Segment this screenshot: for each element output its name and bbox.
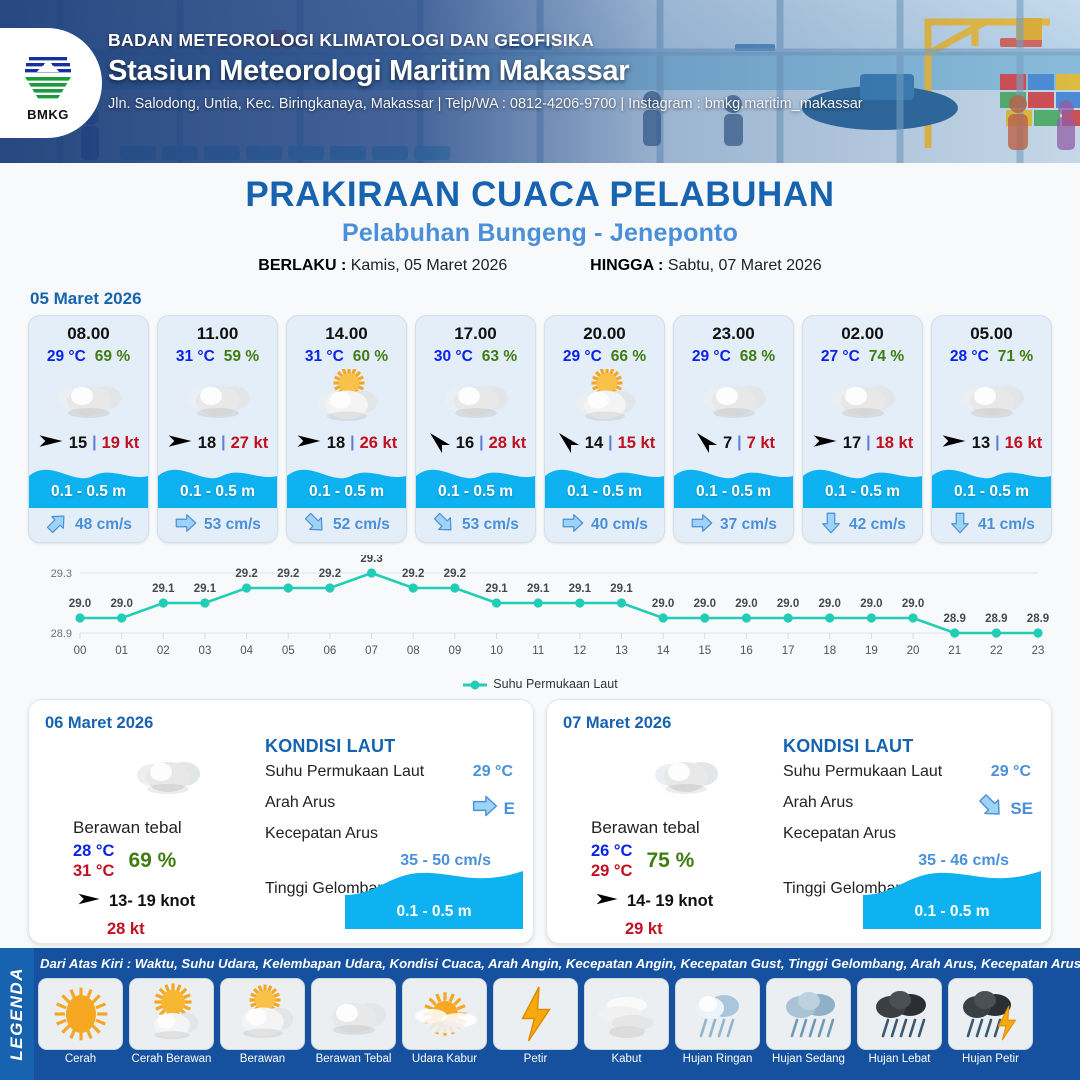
svg-text:28.9: 28.9 xyxy=(1027,613,1049,625)
daily-forecast-card: 07 Maret 2026 Berawan tebal 26 °C 29 °C … xyxy=(546,699,1052,944)
legend-item: Cerah Berawan xyxy=(129,978,214,1065)
petir-icon xyxy=(493,978,578,1050)
svg-text:18: 18 xyxy=(823,645,836,657)
svg-text:15: 15 xyxy=(698,645,711,657)
sst-chart: 29.328.900010203040506070809101112131415… xyxy=(28,555,1052,675)
hourly-card: 11.00 31 °C 59 % 18 | 27 kt 0.1 - 0.5 m xyxy=(157,315,278,543)
legend-item-label: Hujan Lebat xyxy=(857,1053,942,1065)
hourly-card: 23.00 29 °C 68 % 7 | 7 kt 0.1 - 0.5 m xyxy=(673,315,794,543)
berawan-tebal-icon xyxy=(73,742,263,804)
legend-item-label: Hujan Petir xyxy=(948,1053,1033,1065)
card-wind: 7 | 7 kt xyxy=(674,426,793,460)
berawan-tebal-icon xyxy=(591,742,781,804)
arrow-east-icon xyxy=(812,428,838,459)
sea-current-speed-row: Kecepatan Arus xyxy=(783,825,1037,850)
daily-wind-range: 14- 19 knot xyxy=(627,892,713,911)
sea-sst-value: 29 °C xyxy=(473,763,513,781)
page-title: PRAKIRAAN CUACA PELABUHAN xyxy=(0,175,1080,215)
svg-text:29.0: 29.0 xyxy=(735,598,757,610)
card-humidity: 68 % xyxy=(740,348,775,366)
card-wind-separator: | xyxy=(92,434,96,452)
title-block: PRAKIRAAN CUACA PELABUHAN Pelabuhan Bung… xyxy=(0,163,1080,275)
daily-wave-graphic: 0.1 - 0.5 m xyxy=(345,867,523,929)
card-temperature: 29 °C xyxy=(692,348,731,366)
card-current-speed: 41 cm/s xyxy=(978,516,1035,534)
hourly-card: 08.00 29 °C 69 % 15 | 19 kt 0.1 - 0.5 m xyxy=(28,315,149,543)
sea-current-dir-row: Arah Arus SE xyxy=(783,794,1037,819)
berawan-tebal-icon xyxy=(29,368,148,426)
card-current: 53 cm/s xyxy=(416,508,535,542)
sea-sst-label: Suhu Permukaan Laut xyxy=(783,763,942,780)
sea-conditions-title: KONDISI LAUT xyxy=(265,736,519,757)
card-wind-separator: | xyxy=(995,434,999,452)
svg-text:23: 23 xyxy=(1032,645,1045,657)
svg-text:17: 17 xyxy=(782,645,795,657)
svg-text:29.1: 29.1 xyxy=(569,583,592,595)
card-wind-speed: 15 xyxy=(69,434,87,453)
hujan-sedang-icon xyxy=(766,978,851,1050)
svg-text:29.0: 29.0 xyxy=(902,598,924,610)
card-current: 37 cm/s xyxy=(674,508,793,542)
legend-item-label: Cerah xyxy=(38,1053,123,1065)
card-current: 42 cm/s xyxy=(803,508,922,542)
svg-text:01: 01 xyxy=(115,645,128,657)
card-time: 23.00 xyxy=(674,316,793,344)
legend-item-label: Petir xyxy=(493,1053,578,1065)
arrow-east-icon xyxy=(561,511,585,540)
card-wave: 0.1 - 0.5 m xyxy=(416,460,535,508)
card-current: 52 cm/s xyxy=(287,508,406,542)
cerah-icon xyxy=(38,978,123,1050)
valid-to-label: HINGGA : xyxy=(590,257,663,274)
svg-text:04: 04 xyxy=(240,645,253,657)
chart-legend-label: Suhu Permukaan Laut xyxy=(493,677,617,691)
station-name: Stasiun Meteorologi Maritim Makassar xyxy=(108,55,863,88)
daily-temp-min: 26 °C xyxy=(591,841,632,861)
station-contact: Jln. Salodong, Untia, Kec. Biringkanaya,… xyxy=(108,96,863,112)
card-humidity: 74 % xyxy=(869,348,904,366)
legend-item: Petir xyxy=(493,978,578,1065)
card-temperature: 29 °C xyxy=(563,348,602,366)
card-wind-speed: 17 xyxy=(843,434,861,453)
card-wave-height: 0.1 - 0.5 m xyxy=(416,483,535,501)
sst-chart-svg: 29.328.900010203040506070809101112131415… xyxy=(28,555,1052,675)
card-current-speed: 53 cm/s xyxy=(204,516,261,534)
card-wave: 0.1 - 0.5 m xyxy=(803,460,922,508)
card-gust: 16 kt xyxy=(1005,434,1043,453)
card-time: 05.00 xyxy=(932,316,1051,344)
arrow-southeast-icon xyxy=(432,511,456,540)
card-wind: 18 | 27 kt xyxy=(158,426,277,460)
svg-text:29.2: 29.2 xyxy=(319,568,341,580)
card-current-speed: 40 cm/s xyxy=(591,516,648,534)
svg-text:29.1: 29.1 xyxy=(194,583,217,595)
card-gust: 26 kt xyxy=(360,434,398,453)
arrow-east-icon xyxy=(167,428,193,459)
svg-text:20: 20 xyxy=(907,645,920,657)
arrow-east-icon xyxy=(38,428,64,459)
svg-text:22: 22 xyxy=(990,645,1003,657)
card-wind-separator: | xyxy=(866,434,870,452)
daily-condition: Berawan tebal xyxy=(73,818,263,838)
card-temperature: 31 °C xyxy=(176,348,215,366)
card-time: 02.00 xyxy=(803,316,922,344)
card-current-speed: 42 cm/s xyxy=(849,516,906,534)
bmkg-logo-icon xyxy=(17,44,79,106)
sea-sst-row: Suhu Permukaan Laut 29 °C xyxy=(265,763,519,788)
daily-forecast-card: 06 Maret 2026 Berawan tebal 28 °C 31 °C … xyxy=(28,699,534,944)
svg-text:29.1: 29.1 xyxy=(152,583,175,595)
card-wave-height: 0.1 - 0.5 m xyxy=(287,483,406,501)
card-wind: 18 | 26 kt xyxy=(287,426,406,460)
kabut-icon xyxy=(584,978,669,1050)
legend-item-label: Cerah Berawan xyxy=(129,1053,214,1065)
card-wave: 0.1 - 0.5 m xyxy=(287,460,406,508)
card-current-speed: 37 cm/s xyxy=(720,516,777,534)
berawan-tebal-icon xyxy=(932,368,1051,426)
card-wind: 15 | 19 kt xyxy=(29,426,148,460)
legend-note: Dari Atas Kiri : Waktu, Suhu Udara, Kele… xyxy=(40,956,1076,971)
svg-text:29.2: 29.2 xyxy=(235,568,257,580)
svg-text:29.3: 29.3 xyxy=(51,568,72,580)
arrow-east-icon xyxy=(471,792,499,825)
sea-current-dir-value: SE xyxy=(1010,799,1033,819)
hourly-card: 20.00 29 °C 66 % 14 | 15 kt 0.1 - 0.5 m xyxy=(544,315,665,543)
svg-text:09: 09 xyxy=(448,645,461,657)
svg-text:29.0: 29.0 xyxy=(694,598,716,610)
card-wind: 17 | 18 kt xyxy=(803,426,922,460)
card-current: 53 cm/s xyxy=(158,508,277,542)
card-gust: 18 kt xyxy=(876,434,914,453)
berawan-tebal-icon xyxy=(311,978,396,1050)
card-wind-separator: | xyxy=(479,434,483,452)
chart-legend-marker-icon xyxy=(462,679,488,691)
legend-side-label: LEGENDA xyxy=(0,948,34,1080)
svg-text:19: 19 xyxy=(865,645,878,657)
berawan-tebal-icon xyxy=(416,368,535,426)
card-temperature: 30 °C xyxy=(434,348,473,366)
sea-current-speed-row: Kecepatan Arus xyxy=(265,825,519,850)
svg-text:29.1: 29.1 xyxy=(610,583,633,595)
hourly-forecast-row: 08.00 29 °C 69 % 15 | 19 kt 0.1 - 0.5 m xyxy=(0,315,1080,543)
daily-forecast-row: 06 Maret 2026 Berawan tebal 28 °C 31 °C … xyxy=(0,691,1080,944)
arrow-east-icon xyxy=(174,511,198,540)
card-humidity: 63 % xyxy=(482,348,517,366)
legend-items: Cerah Cerah Berawan Berawan Berawan Teba… xyxy=(38,978,1076,1065)
card-wind-separator: | xyxy=(350,434,354,452)
svg-text:07: 07 xyxy=(365,645,378,657)
card-wave: 0.1 - 0.5 m xyxy=(932,460,1051,508)
page-subtitle: Pelabuhan Bungeng - Jeneponto xyxy=(0,219,1080,248)
berawan-icon xyxy=(220,978,305,1050)
card-current-speed: 53 cm/s xyxy=(462,516,519,534)
svg-text:29.2: 29.2 xyxy=(444,568,466,580)
card-wind-separator: | xyxy=(221,434,225,452)
valid-from-label: BERLAKU : xyxy=(258,257,346,274)
arrow-east-icon xyxy=(595,887,619,916)
card-wave-height: 0.1 - 0.5 m xyxy=(803,483,922,501)
daily-condition: Berawan tebal xyxy=(591,818,781,838)
svg-text:29.0: 29.0 xyxy=(652,598,674,610)
legend-item: Hujan Petir xyxy=(948,978,1033,1065)
legend-item-label: Hujan Ringan xyxy=(675,1053,760,1065)
hujan-ringan-icon xyxy=(675,978,760,1050)
card-temperature: 29 °C xyxy=(47,348,86,366)
valid-from-value: Kamis, 05 Maret 2026 xyxy=(351,257,508,274)
card-wind: 13 | 16 kt xyxy=(932,426,1051,460)
svg-text:29.2: 29.2 xyxy=(277,568,299,580)
card-time: 17.00 xyxy=(416,316,535,344)
hourly-date-label: 05 Maret 2026 xyxy=(30,289,1080,309)
sea-sst-row: Suhu Permukaan Laut 29 °C xyxy=(783,763,1037,788)
card-wave: 0.1 - 0.5 m xyxy=(158,460,277,508)
arrow-southeast-icon xyxy=(303,511,327,540)
card-time: 11.00 xyxy=(158,316,277,344)
arrow-northwest-icon xyxy=(692,428,718,459)
card-wave-height: 0.1 - 0.5 m xyxy=(545,483,664,501)
card-wind-separator: | xyxy=(737,434,741,452)
card-gust: 28 kt xyxy=(489,434,527,453)
cerah-berawan-icon xyxy=(129,978,214,1050)
hourly-card: 17.00 30 °C 63 % 16 | 28 kt 0.1 - 0.5 m xyxy=(415,315,536,543)
card-wind: 16 | 28 kt xyxy=(416,426,535,460)
berawan-tebal-icon xyxy=(674,368,793,426)
svg-text:29.1: 29.1 xyxy=(527,583,550,595)
svg-text:08: 08 xyxy=(407,645,420,657)
arrow-southeast-icon xyxy=(977,792,1005,825)
sea-conditions-title: KONDISI LAUT xyxy=(783,736,1037,757)
udara-kabur-icon xyxy=(402,978,487,1050)
daily-temp-max: 29 °C xyxy=(591,861,632,881)
legend-item-label: Berawan Tebal xyxy=(311,1053,396,1065)
daily-gust: 29 kt xyxy=(625,920,781,939)
svg-text:29.2: 29.2 xyxy=(402,568,424,580)
legend-item-label: Udara Kabur xyxy=(402,1053,487,1065)
card-wave: 0.1 - 0.5 m xyxy=(29,460,148,508)
daily-wind-range: 13- 19 knot xyxy=(109,892,195,911)
legend-item-label: Kabut xyxy=(584,1053,669,1065)
chart-legend: Suhu Permukaan Laut xyxy=(0,677,1080,691)
legend-bar: LEGENDA Dari Atas Kiri : Waktu, Suhu Uda… xyxy=(0,948,1080,1080)
card-current-speed: 52 cm/s xyxy=(333,516,390,534)
card-gust: 7 kt xyxy=(747,434,775,453)
svg-text:16: 16 xyxy=(740,645,753,657)
svg-text:02: 02 xyxy=(157,645,170,657)
svg-text:29.0: 29.0 xyxy=(777,598,799,610)
legend-item: Udara Kabur xyxy=(402,978,487,1065)
arrow-south-icon xyxy=(819,511,843,540)
card-wind-separator: | xyxy=(608,434,612,452)
berawan-icon xyxy=(287,368,406,426)
sea-current-dir-label: Arah Arus xyxy=(265,794,335,811)
page-header: BMKG BADAN METEOROLOGI KLIMATOLOGI DAN G… xyxy=(0,0,1080,163)
daily-wave-height: 0.1 - 0.5 m xyxy=(345,903,523,921)
berawan-tebal-icon xyxy=(803,368,922,426)
card-wave-height: 0.1 - 0.5 m xyxy=(29,483,148,501)
card-current-speed: 48 cm/s xyxy=(75,516,132,534)
svg-text:11: 11 xyxy=(532,645,544,657)
valid-to-value: Sabtu, 07 Maret 2026 xyxy=(668,257,822,274)
arrow-northwest-icon xyxy=(554,428,580,459)
card-wind-speed: 18 xyxy=(327,434,345,453)
card-wind-speed: 18 xyxy=(198,434,216,453)
card-wave-height: 0.1 - 0.5 m xyxy=(674,483,793,501)
svg-text:05: 05 xyxy=(282,645,295,657)
sea-current-speed-label: Kecepatan Arus xyxy=(783,825,896,842)
svg-text:28.9: 28.9 xyxy=(51,628,72,640)
arrow-northwest-icon xyxy=(425,428,451,459)
legend-item: Berawan Tebal xyxy=(311,978,396,1065)
daily-gust: 28 kt xyxy=(107,920,263,939)
hourly-card: 02.00 27 °C 74 % 17 | 18 kt 0.1 - 0.5 m xyxy=(802,315,923,543)
daily-humidity: 69 % xyxy=(128,849,176,873)
svg-text:06: 06 xyxy=(324,645,337,657)
daily-date: 07 Maret 2026 xyxy=(563,714,1035,733)
svg-text:29.0: 29.0 xyxy=(819,598,841,610)
hourly-card: 14.00 31 °C 60 % 18 | 26 kt 0.1 - 0.5 m xyxy=(286,315,407,543)
agency-name: BADAN METEOROLOGI KLIMATOLOGI DAN GEOFIS… xyxy=(108,30,863,51)
berawan-icon xyxy=(545,368,664,426)
daily-wave-height: 0.1 - 0.5 m xyxy=(863,903,1041,921)
card-wave-height: 0.1 - 0.5 m xyxy=(158,483,277,501)
daily-wave-graphic: 0.1 - 0.5 m xyxy=(863,867,1041,929)
legend-item: Hujan Lebat xyxy=(857,978,942,1065)
arrow-east-icon xyxy=(690,511,714,540)
card-time: 08.00 xyxy=(29,316,148,344)
legend-item-label: Hujan Sedang xyxy=(766,1053,851,1065)
card-temperature: 31 °C xyxy=(305,348,344,366)
arrow-east-icon xyxy=(77,887,101,916)
card-wind-speed: 16 xyxy=(456,434,474,453)
card-current: 40 cm/s xyxy=(545,508,664,542)
sea-current-dir-value: E xyxy=(504,799,515,819)
card-gust: 27 kt xyxy=(231,434,269,453)
card-temperature: 27 °C xyxy=(821,348,860,366)
legend-item: Hujan Sedang xyxy=(766,978,851,1065)
daily-temp-max: 31 °C xyxy=(73,861,114,881)
card-wind: 14 | 15 kt xyxy=(545,426,664,460)
svg-text:10: 10 xyxy=(490,645,503,657)
svg-text:29.3: 29.3 xyxy=(360,555,382,565)
sea-current-dir-label: Arah Arus xyxy=(783,794,853,811)
card-gust: 15 kt xyxy=(618,434,656,453)
arrow-south-icon xyxy=(948,511,972,540)
svg-text:00: 00 xyxy=(74,645,87,657)
hourly-card: 05.00 28 °C 71 % 13 | 16 kt 0.1 - 0.5 m xyxy=(931,315,1052,543)
card-humidity: 71 % xyxy=(998,348,1033,366)
svg-text:28.9: 28.9 xyxy=(944,613,966,625)
card-wind-speed: 13 xyxy=(972,434,990,453)
bmkg-logo-text: BMKG xyxy=(16,107,80,122)
legend-item: Kabut xyxy=(584,978,669,1065)
card-wind-speed: 14 xyxy=(585,434,603,453)
svg-text:29.0: 29.0 xyxy=(860,598,882,610)
svg-text:12: 12 xyxy=(573,645,586,657)
card-wave: 0.1 - 0.5 m xyxy=(545,460,664,508)
card-humidity: 60 % xyxy=(353,348,388,366)
hujan-petir-icon xyxy=(948,978,1033,1050)
svg-text:21: 21 xyxy=(948,645,961,657)
daily-temp-min: 28 °C xyxy=(73,841,114,861)
card-humidity: 69 % xyxy=(95,348,130,366)
legend-item-label: Berawan xyxy=(220,1053,305,1065)
card-current: 41 cm/s xyxy=(932,508,1051,542)
card-wave-height: 0.1 - 0.5 m xyxy=(932,483,1051,501)
svg-text:13: 13 xyxy=(615,645,628,657)
arrow-east-icon xyxy=(941,428,967,459)
svg-text:03: 03 xyxy=(199,645,212,657)
sea-current-speed-label: Kecepatan Arus xyxy=(265,825,378,842)
hujan-lebat-icon xyxy=(857,978,942,1050)
arrow-northeast-icon xyxy=(45,511,69,540)
card-time: 14.00 xyxy=(287,316,406,344)
card-wind-speed: 7 xyxy=(723,434,732,453)
legend-item: Berawan xyxy=(220,978,305,1065)
card-current: 48 cm/s xyxy=(29,508,148,542)
svg-text:14: 14 xyxy=(657,645,670,657)
card-time: 20.00 xyxy=(545,316,664,344)
sea-sst-value: 29 °C xyxy=(991,763,1031,781)
arrow-east-icon xyxy=(296,428,322,459)
daily-humidity: 75 % xyxy=(646,849,694,873)
card-gust: 19 kt xyxy=(102,434,140,453)
sea-current-dir-row: Arah Arus E xyxy=(265,794,519,819)
berawan-tebal-icon xyxy=(158,368,277,426)
validity-period: BERLAKU : Kamis, 05 Maret 2026 HINGGA : … xyxy=(0,257,1080,275)
card-temperature: 28 °C xyxy=(950,348,989,366)
sea-sst-label: Suhu Permukaan Laut xyxy=(265,763,424,780)
card-wave: 0.1 - 0.5 m xyxy=(674,460,793,508)
svg-text:28.9: 28.9 xyxy=(985,613,1007,625)
legend-item: Cerah xyxy=(38,978,123,1065)
daily-date: 06 Maret 2026 xyxy=(45,714,517,733)
legend-item: Hujan Ringan xyxy=(675,978,760,1065)
card-humidity: 59 % xyxy=(224,348,259,366)
card-humidity: 66 % xyxy=(611,348,646,366)
svg-text:29.0: 29.0 xyxy=(110,598,132,610)
svg-text:29.0: 29.0 xyxy=(69,598,91,610)
svg-text:29.1: 29.1 xyxy=(485,583,508,595)
